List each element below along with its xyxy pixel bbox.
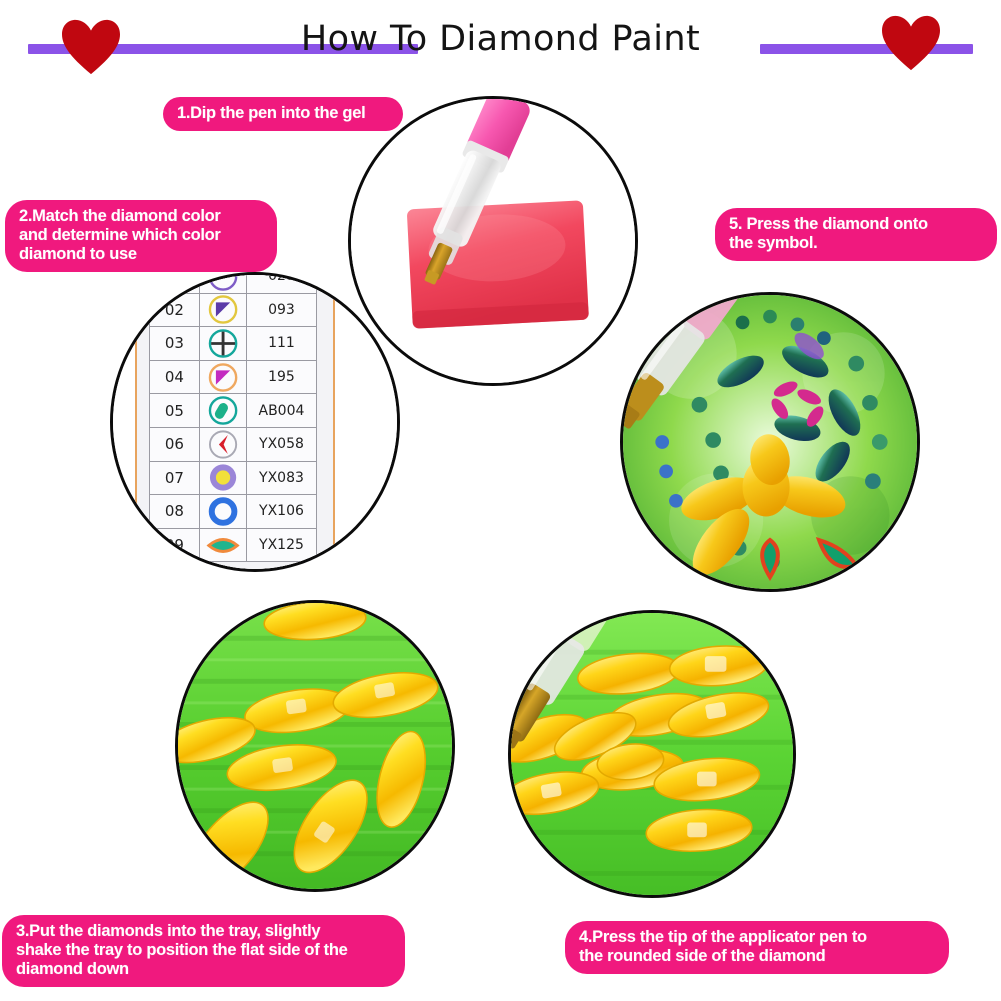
step-2-label: 2.Match the diamond color and determine … — [5, 200, 277, 272]
step-5-photo — [620, 292, 920, 592]
step-3-label: 3.Put the diamonds into the tray, slight… — [2, 915, 405, 987]
infographic-canvas: How To Diamond Paint 1.Dip the pen into … — [0, 0, 1001, 1001]
chart-number: 08 — [150, 495, 200, 529]
chart-symbol — [199, 495, 246, 529]
step-3-photo — [175, 600, 455, 892]
chart-code: YX058 — [246, 427, 316, 461]
chart-symbol — [199, 272, 246, 293]
chart-symbol — [199, 427, 246, 461]
chart-number: 09 — [150, 528, 200, 562]
chart-code: 195 — [246, 360, 316, 394]
chart-code: AB004 — [246, 394, 316, 428]
step-1-label: 1.Dip the pen into the gel — [163, 97, 403, 131]
header: How To Diamond Paint — [0, 0, 1001, 92]
table-row: 02 093 — [150, 293, 317, 327]
step-5-label: 5. Press the diamond onto the symbol. — [715, 208, 997, 261]
chart-code: YX083 — [246, 461, 316, 495]
chart-code: 093 — [246, 293, 316, 327]
chart-number: 04 — [150, 360, 200, 394]
step-4-photo — [508, 610, 796, 898]
table-row: 01 028 — [150, 272, 317, 293]
chart-number: 02 — [150, 293, 200, 327]
chart-number: 03 — [150, 327, 200, 361]
chart-code: 028 — [246, 272, 316, 293]
chart-number: 05 — [150, 394, 200, 428]
chart-number: 01 — [150, 272, 200, 293]
table-row: 04 195 — [150, 360, 317, 394]
chart-symbol — [199, 360, 246, 394]
chart-symbol — [199, 327, 246, 361]
chart-code: YX125 — [246, 528, 316, 562]
table-row: 07 YX083 — [150, 461, 317, 495]
symbol-chart-table: 01 028 02 — [149, 272, 317, 562]
chart-symbol — [199, 394, 246, 428]
chart-symbol — [199, 293, 246, 327]
table-row: 09 YX125 — [150, 528, 317, 562]
table-row: 06 YX058 — [150, 427, 317, 461]
chart-code: 111 — [246, 327, 316, 361]
page-title: How To Diamond Paint — [0, 19, 1001, 59]
chart-symbol — [199, 528, 246, 562]
table-row: 03 111 — [150, 327, 317, 361]
table-row: 05 AB004 — [150, 394, 317, 428]
chart-code: YX106 — [246, 495, 316, 529]
step-2-photo: 01 028 02 — [110, 272, 400, 572]
step-4-label: 4.Press the tip of the applicator pen to… — [565, 921, 949, 974]
symbol-chart: 01 028 02 — [113, 275, 397, 569]
chart-number: 06 — [150, 427, 200, 461]
table-row: 08 YX106 — [150, 495, 317, 529]
chart-symbol — [199, 461, 246, 495]
chart-number: 07 — [150, 461, 200, 495]
